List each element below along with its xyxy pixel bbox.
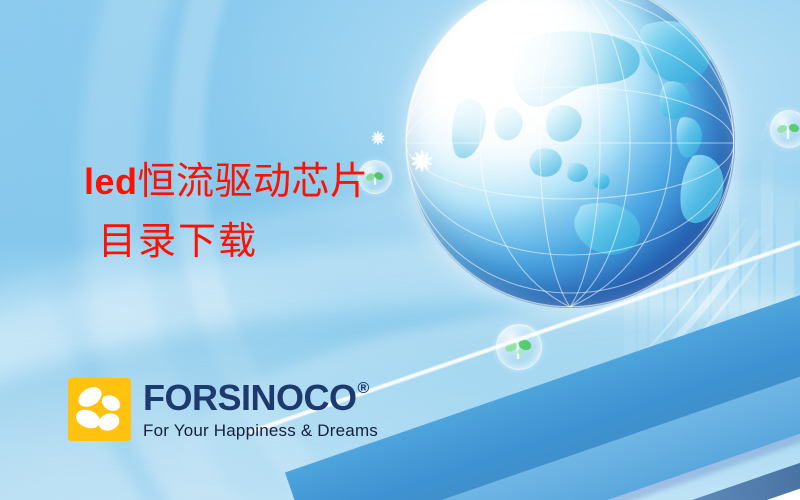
registered-trademark-icon: ® — [358, 381, 369, 397]
brand-name: FORSINOCO® — [143, 380, 378, 416]
flower-petals-icon — [68, 378, 131, 441]
headline-line-1: led恒流驱动芯片 — [84, 163, 369, 201]
brand-name-word: FORSINOCO — [143, 380, 357, 416]
promo-banner: led恒流驱动芯片 目录下载 FORSINOCO® For Your Happi… — [0, 0, 800, 500]
headline-text: led恒流驱动芯片 目录下载 — [84, 163, 369, 261]
headline-latin: led — [84, 161, 138, 202]
sparkle-flower-small-icon — [367, 127, 389, 149]
forsinoco-flower-mark-icon — [68, 378, 131, 441]
sparkle-flower-large-icon — [404, 143, 440, 179]
brand-tagline: For Your Happiness & Dreams — [143, 421, 378, 441]
earth-globe — [405, 0, 735, 308]
brand-text-block: FORSINOCO® For Your Happiness & Dreams — [143, 380, 378, 441]
sprout-icon — [771, 111, 800, 147]
bubble-sprout-right — [770, 110, 800, 148]
headline-line-2: 目录下载 — [98, 223, 369, 261]
headline-cjk: 恒流驱动芯片 — [138, 161, 369, 203]
brand-logo: FORSINOCO® For Your Happiness & Dreams — [68, 378, 378, 441]
